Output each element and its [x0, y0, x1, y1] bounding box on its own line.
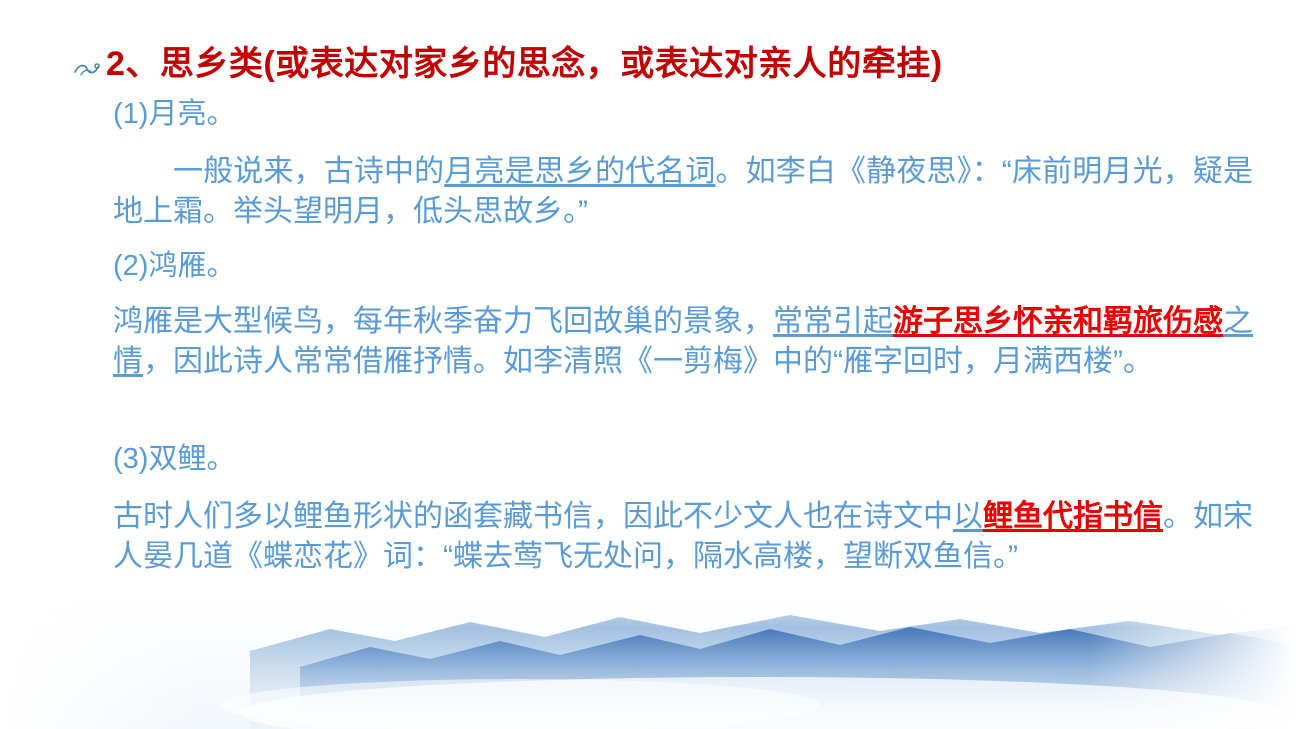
run-underline: 常常引起	[773, 305, 893, 338]
mountain-illustration	[0, 589, 1296, 729]
run-highlight: 鲤鱼代指书信	[983, 500, 1163, 533]
decorative-swirl-icon	[72, 59, 106, 79]
slide-canvas: 2、思乡类(或表达对家乡的思念，或表达对亲人的牵挂) (1)月亮。 一般说来，古…	[0, 0, 1296, 729]
run-plain: 古时人们多以鲤鱼形状的函套藏书信，因此不少文人也在诗文中	[113, 500, 953, 533]
run-highlight: 游子思乡怀亲和羁旅伤感	[893, 305, 1223, 338]
run-plain: 一般说来，古诗中的	[173, 155, 444, 188]
section-paragraph-3: 古时人们多以鲤鱼形状的函套藏书信，因此不少文人也在诗文中以鲤鱼代指书信。如宋人晏…	[113, 497, 1253, 577]
run-underline: 月亮是思乡的代名词	[444, 155, 715, 188]
section-label-1: (1)月亮。	[113, 98, 235, 131]
run-plain: ，因此诗人常常借雁抒情。如李清照《一剪梅》中的“雁字回时，月满西楼”。	[143, 345, 1153, 378]
section-paragraph-1: 一般说来，古诗中的月亮是思乡的代名词。如李白《静夜思》：“床前明月光，疑是地上霜…	[113, 152, 1253, 232]
run-underline: 以	[953, 500, 983, 533]
run-plain: 鸿雁是大型候鸟，每年秋季奋力飞回故巢的景象，	[113, 305, 773, 338]
section-label-2: (2)鸿雁。	[113, 250, 235, 283]
section-label-3: (3)双鲤。	[113, 443, 235, 476]
page-title: 2、思乡类(或表达对家乡的思念，或表达对亲人的牵挂)	[106, 45, 943, 84]
misty-mountain-decoration	[0, 589, 1296, 729]
section-paragraph-2: 鸿雁是大型候鸟，每年秋季奋力飞回故巢的景象，常常引起游子思乡怀亲和羁旅伤感之情，…	[113, 302, 1253, 382]
heading-row: 2、思乡类(或表达对家乡的思念，或表达对亲人的牵挂)	[72, 45, 1252, 84]
